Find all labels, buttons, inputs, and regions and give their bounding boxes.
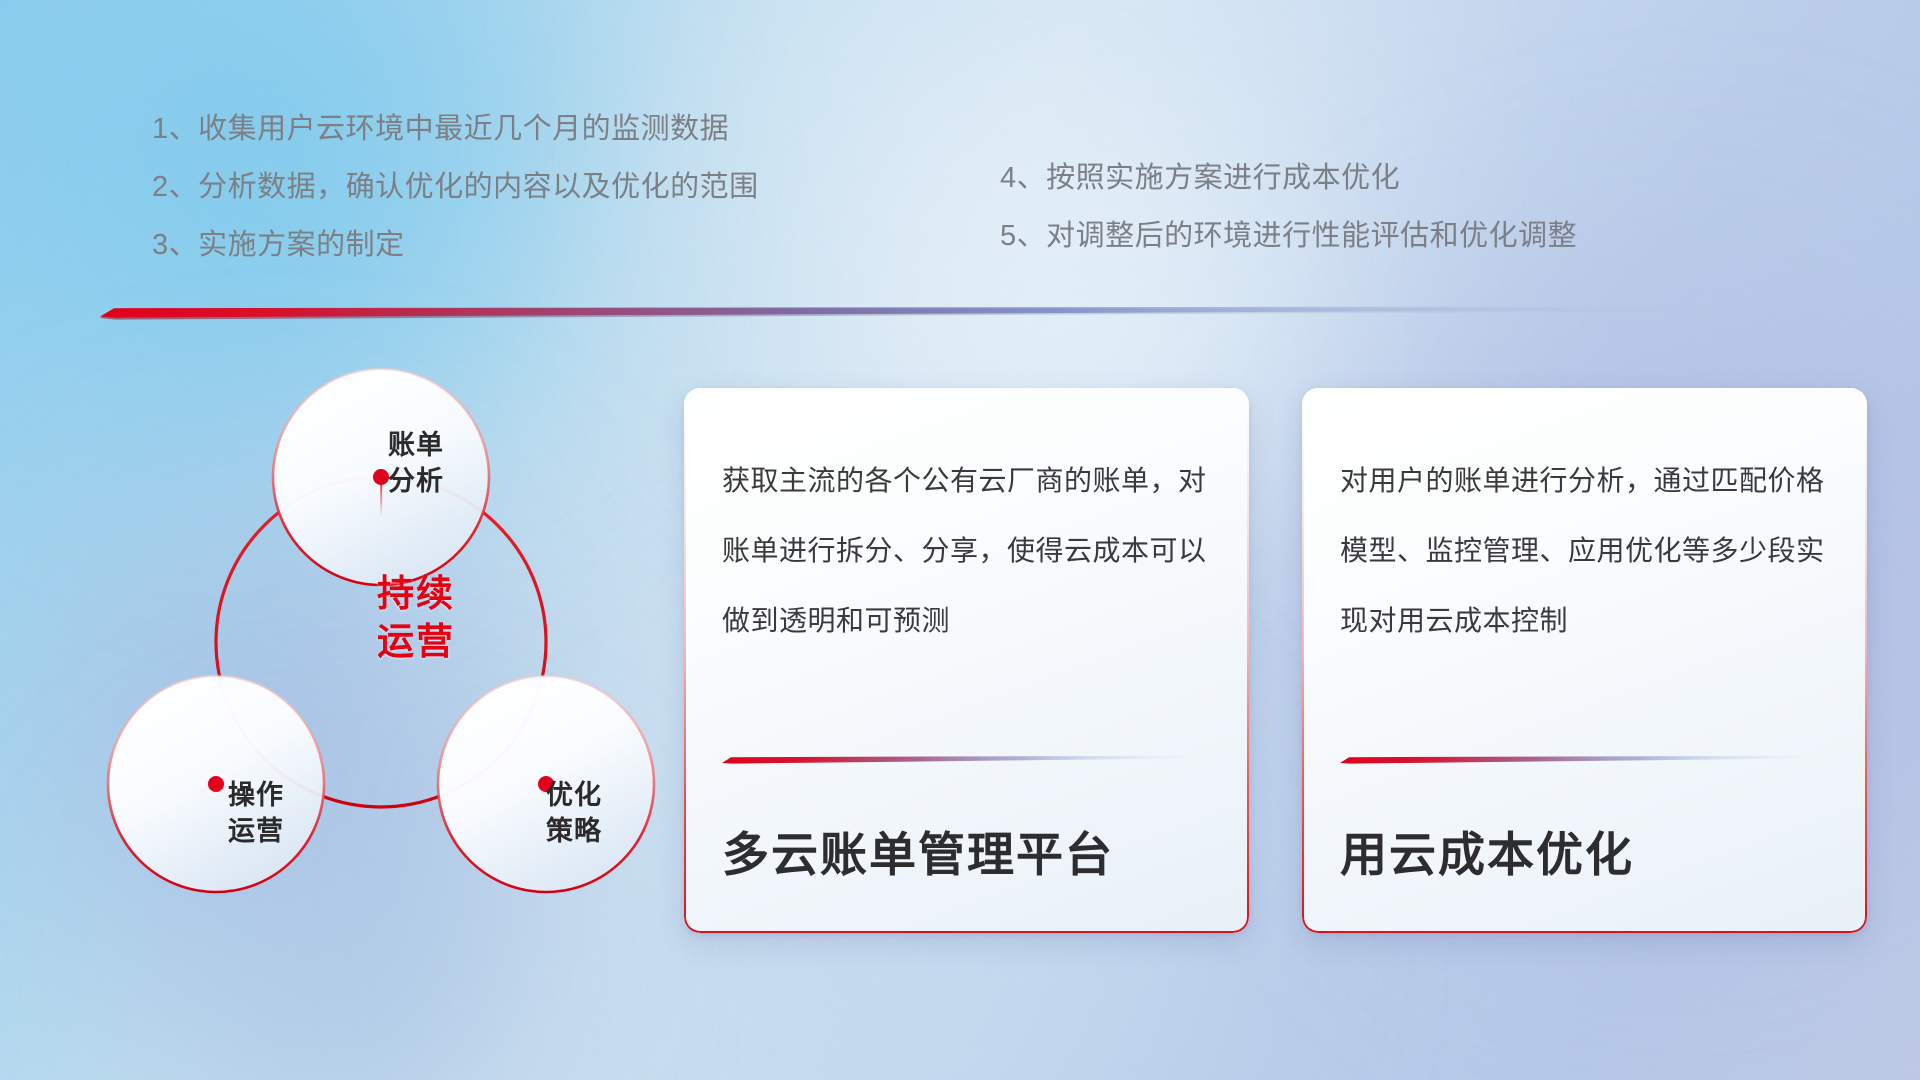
card-multi-cloud-billing-platform[interactable]: 获取主流的各个公有云厂商的账单，对账单进行拆分、分享，使得云成本可以做到透明和可…	[684, 388, 1249, 933]
step-item-2: 2、分析数据，确认优化的内容以及优化的范围	[152, 158, 759, 216]
step-item-1: 1、收集用户云环境中最近几个月的监测数据	[152, 100, 759, 158]
card-cloud-cost-optimization[interactable]: 对用户的账单进行分析，通过匹配价格模型、监控管理、应用优化等多少段实现对用云成本…	[1302, 388, 1867, 933]
card-body-text: 对用户的账单进行分析，通过匹配价格模型、监控管理、应用优化等多少段实现对用云成本…	[1340, 446, 1829, 656]
card-title: 用云成本优化	[1340, 816, 1829, 885]
step-item-5: 5、对调整后的环境进行性能评估和优化调整	[1000, 207, 1577, 265]
steps-left-column: 1、收集用户云环境中最近几个月的监测数据 2、分析数据，确认优化的内容以及优化的…	[152, 100, 759, 274]
steps-section: 1、收集用户云环境中最近几个月的监测数据 2、分析数据，确认优化的内容以及优化的…	[0, 100, 1920, 290]
steps-right-column: 4、按照实施方案进行成本优化 5、对调整后的环境进行性能评估和优化调整	[1000, 149, 1577, 265]
card-body-text: 获取主流的各个公有云厂商的账单，对账单进行拆分、分享，使得云成本可以做到透明和可…	[722, 446, 1211, 656]
continuous-operations-diagram: 账单 分析 操作 运营 优化 策略 持续 运营	[96, 352, 666, 932]
step-item-3: 3、实施方案的制定	[152, 216, 759, 274]
card-title: 多云账单管理平台	[722, 816, 1211, 885]
card-accent-rule	[1340, 755, 1829, 764]
step-item-4: 4、按照实施方案进行成本优化	[1000, 149, 1577, 207]
card-accent-rule	[722, 755, 1211, 764]
section-divider	[100, 306, 1755, 320]
